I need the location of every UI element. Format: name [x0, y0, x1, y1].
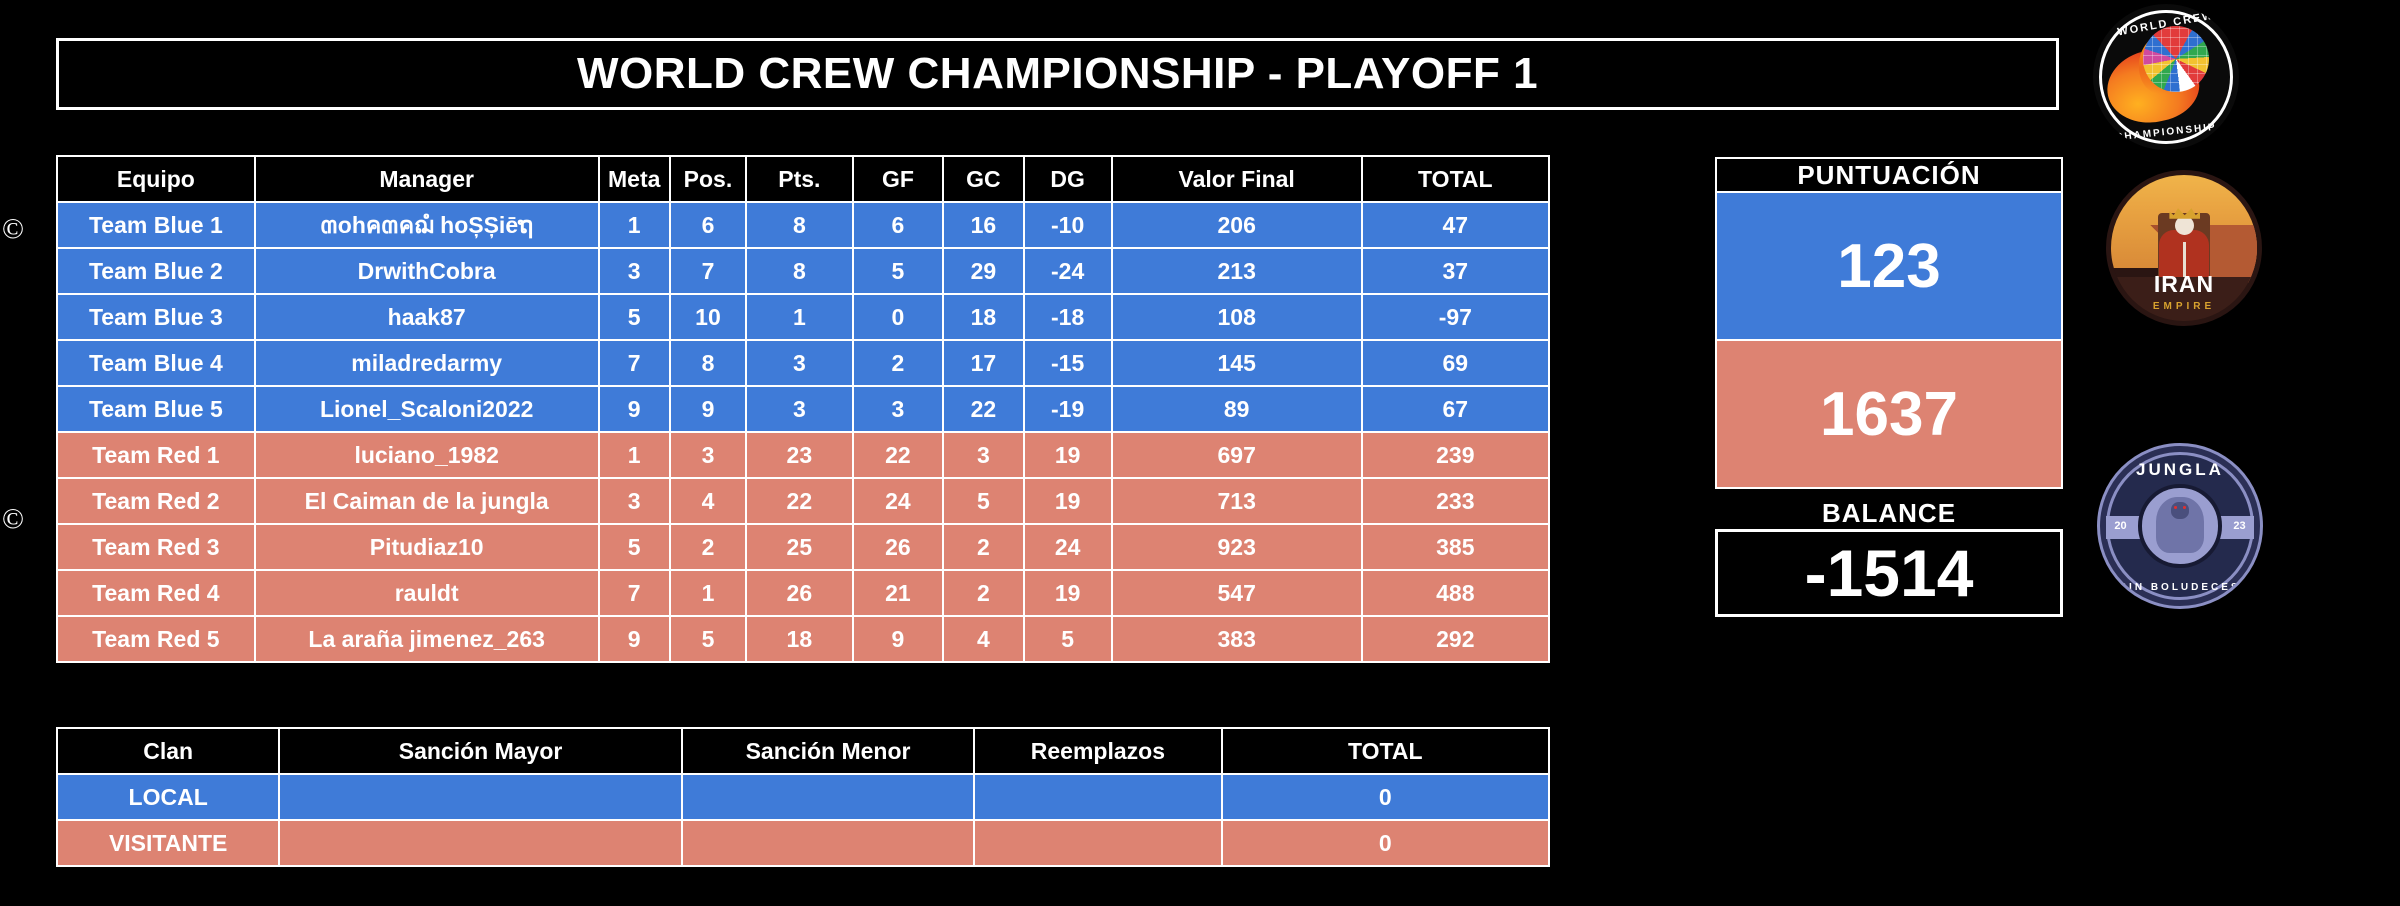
- jungla-inner-circle: [2138, 484, 2221, 567]
- cell-pos: 9: [671, 387, 745, 431]
- jungla-gorilla-icon: [2156, 497, 2204, 553]
- column-header-total: TOTAL: [1363, 157, 1548, 201]
- scoreboard-root: WORLD CREW CHAMPIONSHIP - PLAYOFF 1 © © …: [0, 0, 2400, 906]
- cell-total: -97: [1363, 295, 1548, 339]
- iran-empire-logo-icon: IRAN EMPIRE: [2106, 170, 2262, 326]
- cell-pos: 1: [671, 571, 745, 615]
- cell-gc: 16: [944, 203, 1022, 247]
- cell-total: 69: [1363, 341, 1548, 385]
- cell-meta: 9: [600, 617, 669, 661]
- cell-pts: 3: [747, 387, 851, 431]
- standings-header: Equipo Manager Meta Pos. Pts. GF GC DG V…: [58, 157, 1548, 201]
- cell-gf: 0: [854, 295, 943, 339]
- blue-score-box: 123: [1715, 193, 2063, 341]
- cell-dg: 19: [1025, 433, 1111, 477]
- standings-row: Team Blue 2DrwithCobra378529-2421337: [58, 249, 1548, 293]
- cell-pos: 4: [671, 479, 745, 523]
- cell-meta: 3: [600, 249, 669, 293]
- cell-valor-final: 89: [1113, 387, 1361, 431]
- page-title: WORLD CREW CHAMPIONSHIP - PLAYOFF 1: [577, 49, 1538, 99]
- column-header-reemplazos: Reemplazos: [975, 729, 1220, 773]
- cell-valor-final: 383: [1113, 617, 1361, 661]
- standings-row: Team Blue 1ຓohคຓคฌໍ hoȘȘiēຖ168616-102064…: [58, 203, 1548, 247]
- wcc-globe-icon: [2143, 26, 2209, 92]
- cell-dg: 24: [1025, 525, 1111, 569]
- balance-label: BALANCE: [1715, 497, 2063, 529]
- standings-row: Team Red 5La araña jimenez_2639518945383…: [58, 617, 1548, 661]
- column-header-sancion-menor: Sanción Menor: [683, 729, 973, 773]
- cell-gf: 5: [854, 249, 943, 293]
- cell-pts: 26: [747, 571, 851, 615]
- column-header-sancion-mayor: Sanción Mayor: [280, 729, 681, 773]
- cell-total: 292: [1363, 617, 1548, 661]
- standings-row: Team Red 3Pitudiaz10522526224923385: [58, 525, 1548, 569]
- cell-total: 239: [1363, 433, 1548, 477]
- cell-total: 47: [1363, 203, 1548, 247]
- cell-dg: 5: [1025, 617, 1111, 661]
- cell-gc: 18: [944, 295, 1022, 339]
- cell-meta: 5: [600, 525, 669, 569]
- cell-sancion-menor: [683, 775, 973, 819]
- standings-row: Team Red 2El Caiman de la jungla34222451…: [58, 479, 1548, 523]
- cell-valor-final: 697: [1113, 433, 1361, 477]
- cell-sancion-mayor: [280, 821, 681, 865]
- cell-pos: 8: [671, 341, 745, 385]
- cell-manager: El Caiman de la jungla: [256, 479, 598, 523]
- cell-equipo: Team Blue 5: [58, 387, 254, 431]
- cell-dg: 19: [1025, 479, 1111, 523]
- jungla-top-text: JUNGLA: [2100, 460, 2260, 480]
- cell-pts: 22: [747, 479, 851, 523]
- cell-meta: 7: [600, 571, 669, 615]
- cell-total: 488: [1363, 571, 1548, 615]
- jungla-year-left-text: 20: [2114, 520, 2126, 532]
- standings-row: Team Blue 5Lionel_Scaloni2022993322-1989…: [58, 387, 1548, 431]
- column-header-sanctions-total: TOTAL: [1223, 729, 1548, 773]
- cell-equipo: Team Red 3: [58, 525, 254, 569]
- cell-pos: 6: [671, 203, 745, 247]
- cell-dg: -18: [1025, 295, 1111, 339]
- cell-pts: 8: [747, 249, 851, 293]
- column-header-manager: Manager: [256, 157, 598, 201]
- cell-pts: 18: [747, 617, 851, 661]
- standings-table: Equipo Manager Meta Pos. Pts. GF GC DG V…: [56, 155, 1550, 663]
- cell-valor-final: 108: [1113, 295, 1361, 339]
- cell-equipo: Team Blue 2: [58, 249, 254, 293]
- cell-clan: VISITANTE: [58, 821, 278, 865]
- cell-equipo: Team Red 5: [58, 617, 254, 661]
- cell-pts: 25: [747, 525, 851, 569]
- column-header-gf: GF: [854, 157, 943, 201]
- cell-gf: 22: [854, 433, 943, 477]
- column-header-pos: Pos.: [671, 157, 745, 201]
- cell-total: 67: [1363, 387, 1548, 431]
- world-crew-championship-logo-icon: WORLD CREW CHAMPIONSHIP: [2093, 4, 2239, 150]
- cell-reemplazos: [975, 775, 1220, 819]
- cell-manager: La araña jimenez_263: [256, 617, 598, 661]
- cell-meta: 1: [600, 433, 669, 477]
- cell-gc: 5: [944, 479, 1022, 523]
- title-banner: WORLD CREW CHAMPIONSHIP - PLAYOFF 1: [56, 38, 2059, 110]
- cell-valor-final: 547: [1113, 571, 1361, 615]
- cell-total: 233: [1363, 479, 1548, 523]
- cell-manager: ຓohคຓคฌໍ hoȘȘiēຖ: [256, 203, 598, 247]
- cell-gc: 2: [944, 525, 1022, 569]
- jungla-year-right-text: 23: [2233, 520, 2245, 532]
- cell-pos: 2: [671, 525, 745, 569]
- cell-total: 385: [1363, 525, 1548, 569]
- cell-pts: 8: [747, 203, 851, 247]
- column-header-pts: Pts.: [747, 157, 851, 201]
- column-header-clan: Clan: [58, 729, 278, 773]
- cell-dg: 19: [1025, 571, 1111, 615]
- cell-gc: 3: [944, 433, 1022, 477]
- standings-header-row: Equipo Manager Meta Pos. Pts. GF GC DG V…: [58, 157, 1548, 201]
- cell-equipo: Team Red 4: [58, 571, 254, 615]
- cell-meta: 3: [600, 479, 669, 523]
- cell-equipo: Team Blue 1: [58, 203, 254, 247]
- copyright-icon: ©: [2, 215, 24, 244]
- cell-equipo: Team Red 1: [58, 433, 254, 477]
- cell-valor-final: 713: [1113, 479, 1361, 523]
- cell-gf: 2: [854, 341, 943, 385]
- cell-sancion-menor: [683, 821, 973, 865]
- jungla-gorilla-face: [2171, 502, 2188, 519]
- column-header-valor-final: Valor Final: [1113, 157, 1361, 201]
- cell-manager: Pitudiaz10: [256, 525, 598, 569]
- cell-gf: 9: [854, 617, 943, 661]
- cell-gf: 3: [854, 387, 943, 431]
- column-header-gc: GC: [944, 157, 1022, 201]
- standings-body: Team Blue 1ຓohคຓคฌໍ hoȘȘiēຖ168616-102064…: [58, 203, 1548, 661]
- cell-meta: 7: [600, 341, 669, 385]
- cell-gc: 29: [944, 249, 1022, 293]
- cell-meta: 5: [600, 295, 669, 339]
- cell-sanctions-total: 0: [1223, 775, 1548, 819]
- cell-pts: 1: [747, 295, 851, 339]
- cell-equipo: Team Blue 3: [58, 295, 254, 339]
- red-score-box: 1637: [1715, 341, 2063, 489]
- cell-valor-final: 923: [1113, 525, 1361, 569]
- cell-manager: Lionel_Scaloni2022: [256, 387, 598, 431]
- cell-clan: LOCAL: [58, 775, 278, 819]
- standings-row: Team Blue 3haak875101018-18108-97: [58, 295, 1548, 339]
- sanctions-row: VISITANTE0: [58, 821, 1548, 865]
- cell-pos: 5: [671, 617, 745, 661]
- cell-manager: haak87: [256, 295, 598, 339]
- cell-total: 37: [1363, 249, 1548, 293]
- iran-name-text: IRAN: [2111, 271, 2257, 298]
- sanctions-row: LOCAL0: [58, 775, 1548, 819]
- cell-sanctions-total: 0: [1223, 821, 1548, 865]
- cell-pts: 23: [747, 433, 851, 477]
- cell-gf: 21: [854, 571, 943, 615]
- cell-manager: miladredarmy: [256, 341, 598, 385]
- cell-dg: -15: [1025, 341, 1111, 385]
- cell-equipo: Team Red 2: [58, 479, 254, 523]
- standings-row: Team Red 1luciano_1982132322319697239: [58, 433, 1548, 477]
- puntuacion-label: PUNTUACIÓN: [1715, 157, 2063, 193]
- cell-gf: 24: [854, 479, 943, 523]
- sanctions-body: LOCAL0VISITANTE0: [58, 775, 1548, 865]
- cell-gf: 26: [854, 525, 943, 569]
- sanctions-header-row: Clan Sanción Mayor Sanción Menor Reempla…: [58, 729, 1548, 773]
- cell-dg: -19: [1025, 387, 1111, 431]
- cell-gc: 22: [944, 387, 1022, 431]
- standings-row: Team Blue 4miladredarmy783217-1514569: [58, 341, 1548, 385]
- cell-manager: luciano_1982: [256, 433, 598, 477]
- iran-subtitle-text: EMPIRE: [2111, 301, 2257, 312]
- jungla-bottom-text: SIN BOLUDECES: [2100, 582, 2260, 593]
- cell-pos: 10: [671, 295, 745, 339]
- cell-gc: 4: [944, 617, 1022, 661]
- cell-pts: 3: [747, 341, 851, 385]
- cell-manager: rauldt: [256, 571, 598, 615]
- cell-dg: -10: [1025, 203, 1111, 247]
- column-header-meta: Meta: [600, 157, 669, 201]
- cell-gf: 6: [854, 203, 943, 247]
- cell-gc: 2: [944, 571, 1022, 615]
- balance-value: -1514: [1715, 529, 2063, 617]
- cell-sancion-mayor: [280, 775, 681, 819]
- jungla-logo-icon: 20 23 JUNGLA SIN BOLUDECES: [2097, 443, 2263, 609]
- cell-valor-final: 206: [1113, 203, 1361, 247]
- cell-meta: 1: [600, 203, 669, 247]
- cell-valor-final: 213: [1113, 249, 1361, 293]
- standings-row: Team Red 4rauldt712621219547488: [58, 571, 1548, 615]
- sanctions-table: Clan Sanción Mayor Sanción Menor Reempla…: [56, 727, 1550, 867]
- cell-pos: 7: [671, 249, 745, 293]
- cell-valor-final: 145: [1113, 341, 1361, 385]
- cell-manager: DrwithCobra: [256, 249, 598, 293]
- cell-equipo: Team Blue 4: [58, 341, 254, 385]
- column-header-dg: DG: [1025, 157, 1111, 201]
- copyright-icon: ©: [2, 505, 24, 534]
- sanctions-header: Clan Sanción Mayor Sanción Menor Reempla…: [58, 729, 1548, 773]
- cell-meta: 9: [600, 387, 669, 431]
- cell-gc: 17: [944, 341, 1022, 385]
- cell-pos: 3: [671, 433, 745, 477]
- cell-reemplazos: [975, 821, 1220, 865]
- cell-dg: -24: [1025, 249, 1111, 293]
- column-header-equipo: Equipo: [58, 157, 254, 201]
- score-panel: PUNTUACIÓN 123 1637 BALANCE -1514: [1715, 157, 2063, 617]
